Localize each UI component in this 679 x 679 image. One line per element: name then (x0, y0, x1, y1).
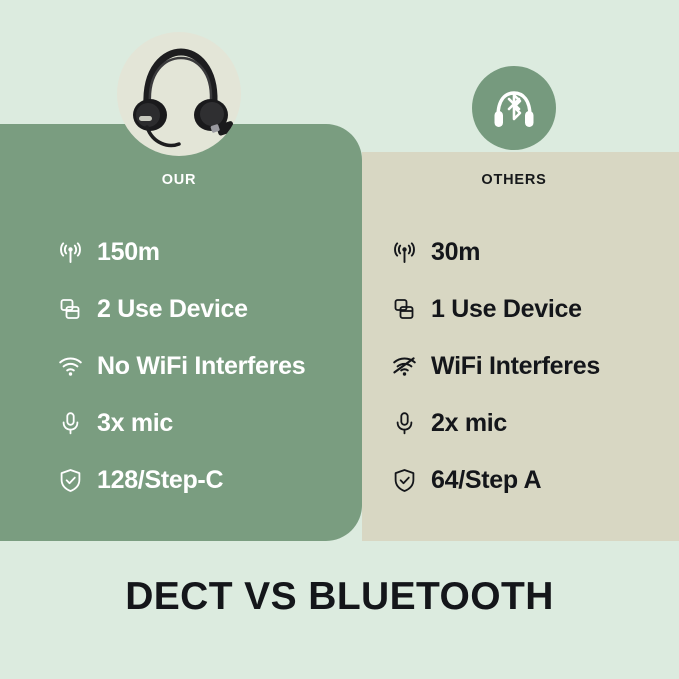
feature-row: 128/Step-C (55, 452, 355, 509)
feature-label: 128/Step-C (97, 466, 223, 495)
feature-label: 2 Use Device (97, 295, 248, 324)
feature-row: No WiFi Interferes (55, 338, 355, 395)
feature-row: 3x mic (55, 395, 355, 452)
multi-device-icon (389, 294, 420, 325)
others-feature-list: 30m 1 Use Device (389, 224, 674, 509)
headphones-bluetooth-icon (488, 82, 540, 134)
our-column-heading: OUR (99, 172, 259, 188)
feature-row: 64/Step A (389, 452, 674, 509)
signal-tower-icon (389, 237, 420, 268)
shield-check-icon (389, 465, 420, 496)
microphone-icon (389, 408, 420, 439)
our-feature-list: 150m 2 Use Device (55, 224, 355, 509)
feature-label: 3x mic (97, 409, 173, 438)
wifi-off-icon (389, 351, 420, 382)
others-badge (472, 66, 556, 150)
feature-label: 30m (431, 238, 480, 267)
feature-row: WiFi Interferes (389, 338, 674, 395)
feature-row: 2 Use Device (55, 281, 355, 338)
signal-tower-icon (55, 237, 86, 268)
feature-row: 1 Use Device (389, 281, 674, 338)
feature-row: 30m (389, 224, 674, 281)
feature-row: 150m (55, 224, 355, 281)
feature-label: 64/Step A (431, 466, 541, 495)
feature-label: No WiFi Interferes (97, 352, 305, 381)
others-column-heading: OTHERS (434, 172, 594, 188)
feature-label: 150m (97, 238, 160, 267)
multi-device-icon (55, 294, 86, 325)
microphone-icon (55, 408, 86, 439)
headset-photo-icon (117, 32, 241, 156)
feature-label: 2x mic (431, 409, 507, 438)
shield-check-icon (55, 465, 86, 496)
feature-label: WiFi Interferes (431, 352, 600, 381)
feature-row: 2x mic (389, 395, 674, 452)
feature-label: 1 Use Device (431, 295, 582, 324)
wifi-icon (55, 351, 86, 382)
page-title: DECT VS BLUETOOTH (0, 575, 679, 619)
our-headset-photo (117, 32, 241, 156)
comparison-infographic: OUR OTHERS 150m (0, 0, 679, 679)
